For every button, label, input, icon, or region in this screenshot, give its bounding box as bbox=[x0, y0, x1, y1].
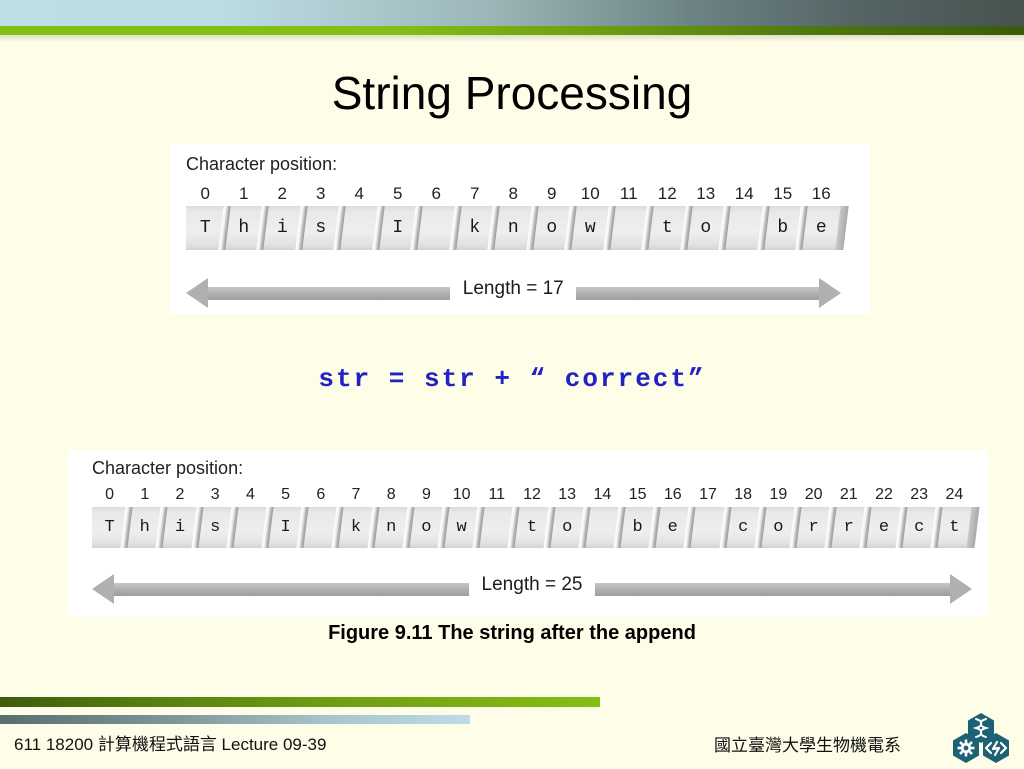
character-index: 20 bbox=[796, 486, 831, 504]
character-index: 15 bbox=[764, 184, 803, 204]
character-glyph: o bbox=[773, 519, 783, 536]
character-glyph: c bbox=[914, 519, 924, 536]
character-index: 12 bbox=[648, 184, 687, 204]
character-index: 10 bbox=[571, 184, 610, 204]
character-index: 0 bbox=[92, 486, 127, 504]
length-arrow-bottom: Length = 25 bbox=[92, 572, 972, 606]
bime-ntu-logo-icon bbox=[950, 712, 1012, 764]
character-index: 11 bbox=[610, 184, 649, 204]
character-index: 1 bbox=[127, 486, 162, 504]
character-strip-top: ThisIknowtobe bbox=[186, 206, 841, 250]
arrow-head-left-icon bbox=[92, 574, 114, 604]
character-index: 4 bbox=[340, 184, 379, 204]
character-index: 23 bbox=[902, 486, 937, 504]
character-index: 21 bbox=[831, 486, 866, 504]
character-index: 6 bbox=[303, 486, 338, 504]
character-glyph: t bbox=[662, 219, 673, 237]
character-glyph: o bbox=[700, 219, 711, 237]
character-glyph: w bbox=[585, 219, 596, 237]
character-index: 2 bbox=[162, 486, 197, 504]
character-glyph: n bbox=[386, 519, 396, 536]
footer-university-text: 國立臺灣大學生物機電系 bbox=[714, 731, 901, 756]
character-glyph: b bbox=[632, 519, 642, 536]
character-index: 9 bbox=[409, 486, 444, 504]
character-glyph: t bbox=[527, 519, 537, 536]
character-glyph: s bbox=[315, 219, 326, 237]
character-glyph: s bbox=[210, 519, 220, 536]
length-label-bottom: Length = 25 bbox=[469, 574, 595, 596]
character-index: 16 bbox=[655, 486, 690, 504]
character-index: 4 bbox=[233, 486, 268, 504]
character-glyph: T bbox=[200, 219, 211, 237]
footer-blue-bar bbox=[0, 715, 470, 724]
character-glyph: I bbox=[392, 219, 403, 237]
character-glyph: r bbox=[844, 519, 854, 536]
length-arrow-top: Length = 17 bbox=[186, 276, 841, 310]
character-index: 8 bbox=[494, 184, 533, 204]
character-index: 16 bbox=[802, 184, 841, 204]
character-glyph: k bbox=[351, 519, 361, 536]
character-glyph: T bbox=[104, 519, 114, 536]
arrow-head-right-icon bbox=[950, 574, 972, 604]
character-index: 13 bbox=[687, 184, 726, 204]
figure-caption: Figure 9.11 The string after the append bbox=[0, 622, 1024, 645]
character-glyph: c bbox=[738, 519, 748, 536]
character-glyph: i bbox=[277, 219, 288, 237]
character-index: 14 bbox=[585, 486, 620, 504]
character-glyph: e bbox=[816, 219, 827, 237]
character-index: 3 bbox=[302, 184, 341, 204]
top-green-accent-bar bbox=[0, 26, 1024, 35]
arrow-bar-left bbox=[208, 287, 450, 300]
character-glyph: r bbox=[808, 519, 818, 536]
arrow-bar-left bbox=[114, 583, 469, 596]
index-row-bottom: 0123456789101112131415161718192021222324 bbox=[92, 486, 972, 506]
character-index: 14 bbox=[725, 184, 764, 204]
character-index: 11 bbox=[479, 486, 514, 504]
character-index: 3 bbox=[198, 486, 233, 504]
character-position-label-bottom: Character position: bbox=[92, 458, 243, 479]
index-row-top: 012345678910111213141516 bbox=[186, 184, 841, 204]
character-index: 0 bbox=[186, 184, 225, 204]
figure-top-panel: Character position: 01234567891011121314… bbox=[170, 144, 870, 314]
character-strip-bottom: ThisIknowtobecorrect bbox=[92, 507, 972, 548]
character-glyph: o bbox=[546, 219, 557, 237]
arrow-bar-right bbox=[576, 287, 818, 300]
character-glyph: k bbox=[469, 219, 480, 237]
character-index: 10 bbox=[444, 486, 479, 504]
arrow-head-right-icon bbox=[819, 278, 841, 308]
page-title: String Processing bbox=[0, 66, 1024, 120]
arrow-bar-right bbox=[595, 583, 950, 596]
character-glyph: I bbox=[280, 519, 290, 536]
character-index: 7 bbox=[338, 486, 373, 504]
character-index: 15 bbox=[620, 486, 655, 504]
character-glyph: b bbox=[777, 219, 788, 237]
character-glyph: e bbox=[668, 519, 678, 536]
character-index: 6 bbox=[417, 184, 456, 204]
character-glyph: o bbox=[562, 519, 572, 536]
length-label-top: Length = 17 bbox=[450, 278, 576, 300]
character-glyph: o bbox=[421, 519, 431, 536]
character-glyph: t bbox=[949, 519, 959, 536]
footer-course-text: 611 18200 計算機程式語言 Lecture 09-39 bbox=[14, 730, 326, 755]
character-glyph: h bbox=[140, 519, 150, 536]
code-expression: str = str + “ correct” bbox=[0, 364, 1024, 394]
footer-green-bar bbox=[0, 697, 600, 707]
character-index: 24 bbox=[937, 486, 972, 504]
character-index: 8 bbox=[374, 486, 409, 504]
character-index: 7 bbox=[456, 184, 495, 204]
top-gradient-bar bbox=[0, 0, 1024, 26]
top-bar-shadow bbox=[0, 35, 1024, 42]
character-index: 9 bbox=[533, 184, 572, 204]
character-index: 19 bbox=[761, 486, 796, 504]
character-glyph: e bbox=[879, 519, 889, 536]
arrow-head-left-icon bbox=[186, 278, 208, 308]
character-index: 5 bbox=[379, 184, 418, 204]
character-index: 5 bbox=[268, 486, 303, 504]
character-index: 13 bbox=[550, 486, 585, 504]
character-glyph: h bbox=[238, 219, 249, 237]
character-glyph: n bbox=[508, 219, 519, 237]
character-position-label-top: Character position: bbox=[186, 154, 337, 175]
character-cell: e bbox=[802, 206, 841, 250]
character-glyph: w bbox=[456, 519, 466, 536]
figure-bottom-panel: Character position: 01234567891011121314… bbox=[68, 450, 988, 617]
character-index: 22 bbox=[866, 486, 901, 504]
character-index: 18 bbox=[726, 486, 761, 504]
character-index: 2 bbox=[263, 184, 302, 204]
character-glyph: i bbox=[175, 519, 185, 536]
character-index: 12 bbox=[514, 486, 549, 504]
character-index: 17 bbox=[690, 486, 725, 504]
character-index: 1 bbox=[225, 184, 264, 204]
